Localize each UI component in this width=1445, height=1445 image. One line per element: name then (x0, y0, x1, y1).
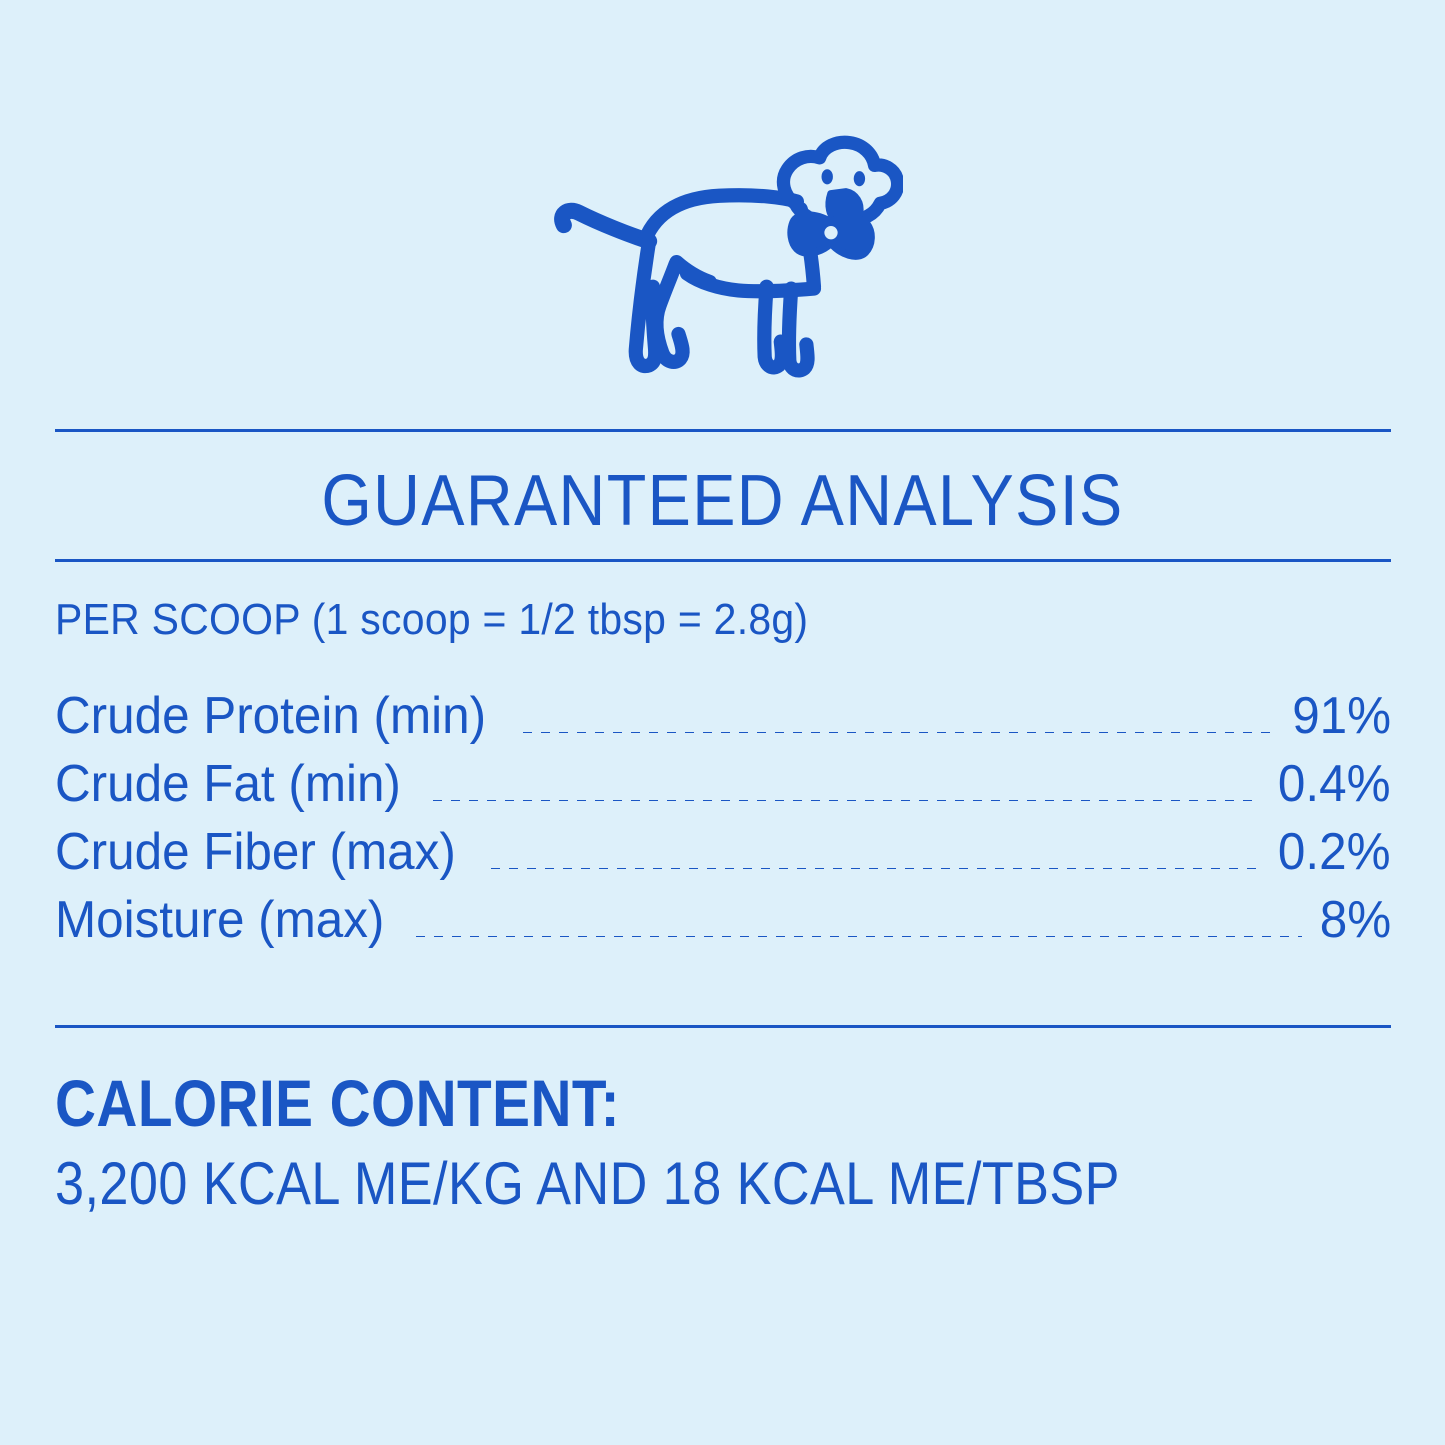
table-row: Crude Fat (min) 0.4% (55, 750, 1391, 818)
calorie-content-value: 3,200 KCAL ME/KG AND 18 KCAL ME/TBSP (55, 1146, 1120, 1222)
nutrient-label: Crude Fat (min) (55, 750, 401, 818)
dotted-leader (416, 936, 1302, 937)
table-row: Crude Fiber (max) 0.2% (55, 818, 1391, 886)
calorie-content-heading: CALORIE CONTENT: (55, 1062, 620, 1144)
nutrient-value: 0.2% (1278, 818, 1391, 886)
guaranteed-analysis-table: Crude Protein (min) 91% Crude Fat (min) … (55, 682, 1391, 954)
dog-with-bowtie-icon (543, 128, 903, 398)
nutrient-value: 0.4% (1278, 750, 1391, 818)
brand-logo (0, 118, 1445, 408)
nutrient-label: Crude Fiber (max) (55, 818, 456, 886)
dotted-leader (491, 868, 1259, 869)
table-row: Moisture (max) 8% (55, 886, 1391, 954)
serving-size-note: PER SCOOP (1 scoop = 1/2 tbsp = 2.8g) (55, 592, 808, 648)
nutrient-value: 91% (1292, 682, 1391, 750)
nutrient-value: 8% (1320, 886, 1391, 954)
page-title: GUARANTEED ANALYSIS (72, 456, 1373, 546)
divider-top (55, 429, 1391, 432)
dotted-leader (433, 800, 1258, 801)
divider-mid (55, 559, 1391, 562)
guaranteed-analysis-panel: GUARANTEED ANALYSIS PER SCOOP (1 scoop =… (0, 0, 1445, 1445)
dotted-leader (523, 732, 1273, 733)
divider-bottom (55, 1025, 1391, 1028)
nutrient-label: Crude Protein (min) (55, 682, 486, 750)
nutrient-label: Moisture (max) (55, 886, 384, 954)
table-row: Crude Protein (min) 91% (55, 682, 1391, 750)
